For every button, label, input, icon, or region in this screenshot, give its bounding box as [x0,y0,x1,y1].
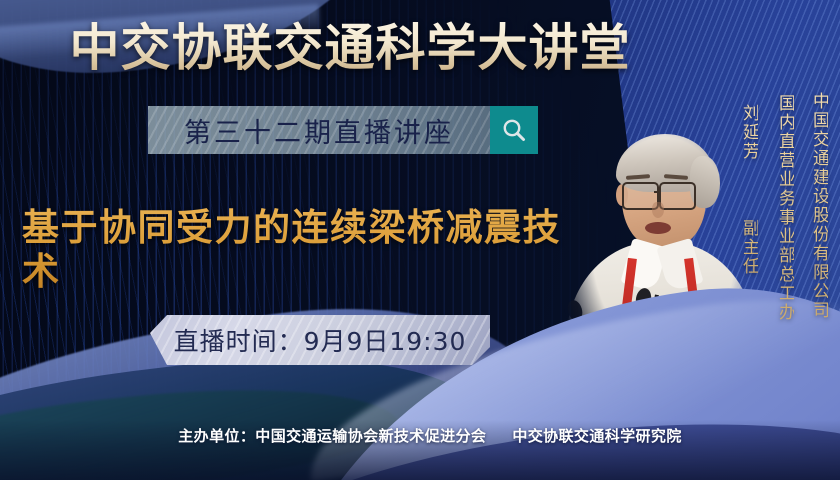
page-title: 中交协联交通科学大讲堂 [0,20,840,76]
speaker-glasses-right [659,182,696,210]
speaker-name: 刘延芳 [739,104,759,161]
lecture-topic: 基于协同受力的连续梁桥减震技术 [22,206,582,294]
speaker-mouth [645,222,671,234]
search-icon[interactable] [490,106,538,154]
episode-banner: 第三十二期直播讲座 [148,106,490,154]
speaker-title: 副主任 [739,219,759,276]
episode-label: 第三十二期直播讲座 [184,111,454,150]
broadcast-time-badge: 直播时间：9月9日19:30 [150,315,490,365]
speaker-company: 中国交通建设股份有限公司 [810,92,828,320]
organizer-name-2: 中交协联交通科学研究院 [512,427,681,445]
broadcast-time-label: 直播时间：9月9日19:30 [174,322,467,358]
speaker-name-title: 刘延芳 副主任 [740,104,758,276]
organizer-name-1: 中国交通运输协会新技术促进分会 [255,427,486,445]
speaker-department: 国内直营业务事业部总工办 [776,94,794,322]
organizer-prefix: 主办单位： [178,427,255,445]
live-stream-poster: 中交协联交通科学大讲堂 第三十二期直播讲座 基于协同受力的连续梁桥减震技术 直播… [0,0,840,480]
speaker-nose [652,202,664,218]
speaker-glasses-bridge [654,191,661,193]
organizers-footer: 主办单位：中国交通运输协会新技术促进分会中交协联交通科学研究院 [0,425,840,446]
